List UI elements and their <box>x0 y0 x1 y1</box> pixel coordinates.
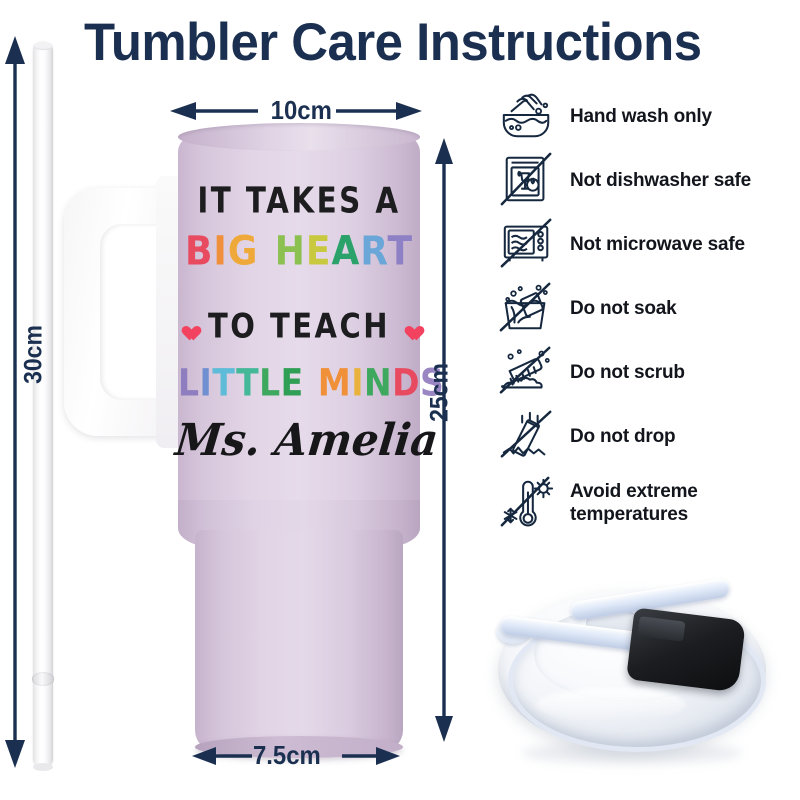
straw-length-label: 30cm <box>19 325 48 384</box>
artwork-letter: I <box>200 361 213 405</box>
lid-slider-closure <box>626 607 746 692</box>
straw-length-arrow <box>2 34 32 770</box>
tumbler-product-image: IT TAKES A BIG HEART TO TEACH LITTLE MIN… <box>60 128 460 748</box>
straw-product-image <box>33 42 53 768</box>
tumbler-height-arrow <box>432 136 458 744</box>
straw-ring <box>32 672 54 686</box>
care-label: Do not scrub <box>570 361 685 384</box>
avoid-extreme-temperatures-icon <box>498 475 556 531</box>
care-instructions-list: Hand wash only Not dishwasher safe <box>498 84 798 538</box>
artwork-letter: R <box>360 229 387 275</box>
artwork-letter: B <box>185 229 213 275</box>
artwork-letter: T <box>236 361 259 405</box>
care-row-hand-wash: Hand wash only <box>498 84 798 148</box>
product-care-infographic: Tumbler Care Instructions 30cm 10cm IT T… <box>0 0 800 800</box>
care-row-no-drop: Do not drop <box>498 404 798 468</box>
no-microwave-icon <box>498 216 556 272</box>
lid-product-image <box>478 566 788 786</box>
artwork-letter: M <box>318 361 351 405</box>
artwork-personalized-name: Ms. Amelia <box>173 418 420 462</box>
care-row-no-microwave: Not microwave safe <box>498 212 798 276</box>
artwork-letter: D <box>392 361 420 405</box>
artwork-line-4: LITTLE MINDS <box>178 364 420 401</box>
artwork-letter: T <box>212 361 236 405</box>
heart-icon-right <box>402 319 419 335</box>
artwork-letter: I <box>351 361 364 405</box>
artwork-letter <box>304 361 318 405</box>
tumbler-artwork: IT TAKES A BIG HEART TO TEACH LITTLE MIN… <box>178 136 420 528</box>
tumbler-height-label: 25cm <box>425 363 454 422</box>
artwork-line-3: TO TEACH <box>208 309 390 343</box>
care-label: Hand wash only <box>570 105 712 128</box>
artwork-letter: L <box>259 361 281 405</box>
artwork-letter: I <box>213 229 227 275</box>
artwork-letter: L <box>178 361 200 405</box>
no-drop-icon <box>498 408 556 464</box>
page-title: Tumbler Care Instructions <box>84 14 768 72</box>
artwork-line-3-row: TO TEACH <box>178 312 420 341</box>
care-label: Do not drop <box>570 425 675 448</box>
care-label: Not dishwasher safe <box>570 169 751 192</box>
hand-wash-icon <box>498 88 556 144</box>
artwork-letter: T <box>387 229 413 275</box>
base-width-label: 7.5cm <box>253 740 321 771</box>
tumbler-body-lower <box>195 530 403 752</box>
artwork-line-1: IT TAKES A <box>180 184 417 219</box>
care-label: Avoid extreme temperatures <box>570 480 798 526</box>
artwork-letter: N <box>364 361 392 405</box>
no-soak-icon <box>498 280 556 336</box>
top-width-label: 10cm <box>271 95 332 126</box>
artwork-letter: E <box>306 229 332 275</box>
artwork-letter: H <box>275 229 306 275</box>
care-row-no-scrub: Do not scrub <box>498 340 798 404</box>
straw-bottom-cap <box>33 763 53 771</box>
care-row-no-dishwasher: Not dishwasher safe <box>498 148 798 212</box>
lid-highlight <box>536 688 686 722</box>
care-label: Not microwave safe <box>570 233 745 256</box>
artwork-letter: E <box>281 361 304 405</box>
heart-icon-left <box>179 319 196 335</box>
artwork-line-2: BIG HEART <box>178 232 420 272</box>
artwork-letter: A <box>332 229 361 275</box>
care-label: Do not soak <box>570 297 677 320</box>
straw-top-cap <box>33 42 53 50</box>
no-scrub-icon <box>498 344 556 400</box>
care-row-avoid-extreme-temperatures: Avoid extreme temperatures <box>498 468 798 538</box>
artwork-letter <box>258 229 274 275</box>
artwork-letter: G <box>228 229 259 275</box>
lid-slider-notch <box>637 616 685 641</box>
care-row-no-soak: Do not soak <box>498 276 798 340</box>
no-dishwasher-icon <box>498 152 556 208</box>
